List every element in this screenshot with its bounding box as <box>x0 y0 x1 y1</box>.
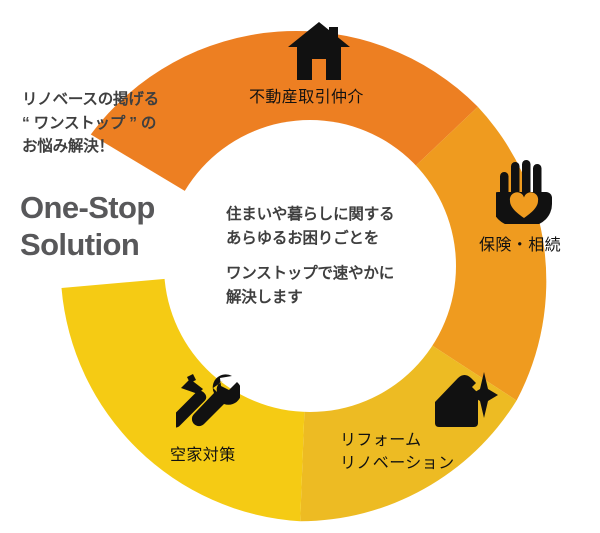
segment-label-realestate: 不動産取引仲介 <box>249 87 364 110</box>
centre-description: 住まいや暮らしに関する あらゆるお困りごとを ワンストップで速やかに 解決します <box>226 203 441 310</box>
segment-label-insurance: 保険・相続 <box>479 235 561 258</box>
page-title: One-Stop Solution <box>20 190 250 264</box>
centre-para2-line1: ワンストップで速やかに <box>226 262 441 286</box>
segment-label-vacant: 空家対策 <box>170 445 236 468</box>
lead-text-block: リノベースの掲げる “ ワンストップ ” の お悩み解決！ <box>22 88 237 159</box>
lead-line-3: お悩み解決！ <box>22 135 237 159</box>
headline-line-1: One-Stop <box>20 190 250 227</box>
segment-label-reform-line2: リノベーション <box>340 453 454 476</box>
segment-label-reform-line1: リフォーム <box>340 430 454 453</box>
lead-line-2: “ ワンストップ ” の <box>22 112 237 136</box>
segment-label-reform: リフォーム リノベーション <box>340 430 454 475</box>
centre-para1-line1: 住まいや暮らしに関する <box>226 203 441 227</box>
centre-para1-line2: あらゆるお困りごとを <box>226 227 441 251</box>
one-stop-solution-infographic: リノベースの掲げる “ ワンストップ ” の お悩み解決！ One-Stop S… <box>0 0 600 533</box>
centre-paragraph-2: ワンストップで速やかに 解決します <box>226 262 441 310</box>
centre-paragraph-1: 住まいや暮らしに関する あらゆるお困りごとを <box>226 203 441 251</box>
house-icon <box>288 22 350 80</box>
centre-para2-line2: 解決します <box>226 286 441 310</box>
hand-heart-icon <box>496 158 552 224</box>
house-sparkle-icon <box>432 372 498 428</box>
lead-line-1: リノベースの掲げる <box>22 88 237 112</box>
headline-line-2: Solution <box>20 227 250 264</box>
hammer-wrench-icon <box>176 372 240 432</box>
